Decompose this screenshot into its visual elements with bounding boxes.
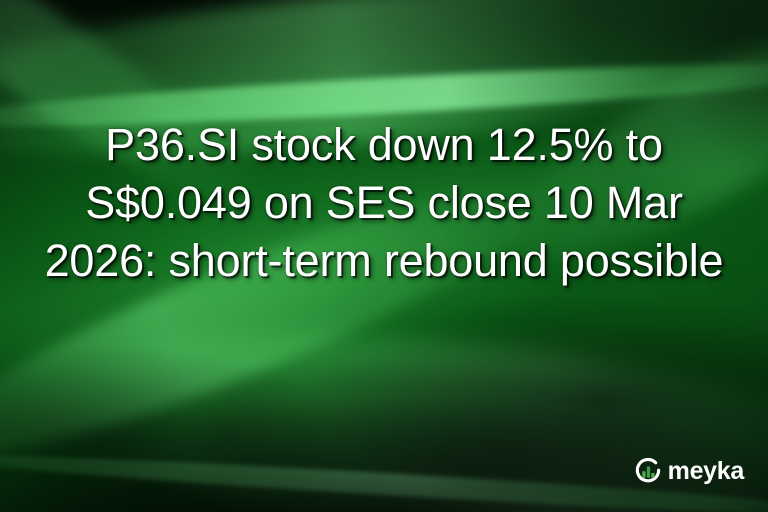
headline-text: P36.SI stock down 12.5% to S$0.049 on SE… [0,116,768,290]
social-share-card: P36.SI stock down 12.5% to S$0.049 on SE… [0,0,768,512]
circular-bar-chart-icon [633,456,663,486]
meyka-logo: meyka [633,456,744,486]
meyka-wordmark: meyka [668,459,744,484]
